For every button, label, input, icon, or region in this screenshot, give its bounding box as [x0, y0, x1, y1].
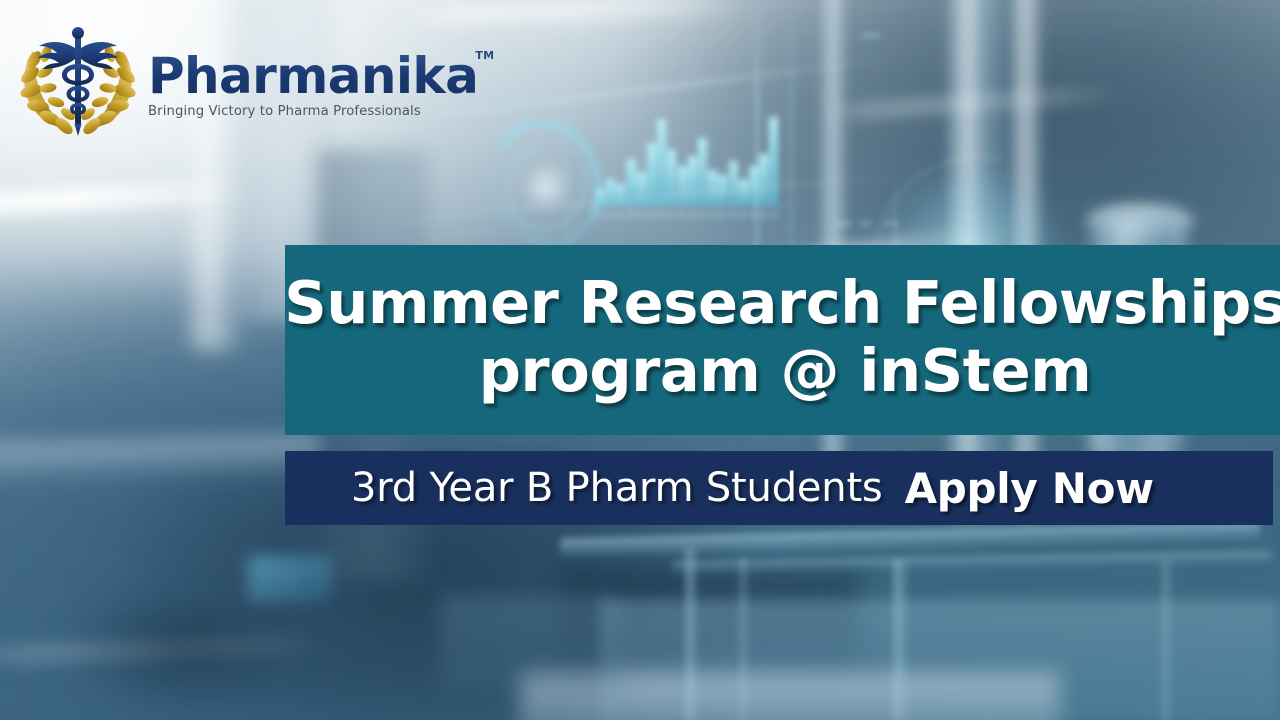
holographic-axis-tick	[770, 213, 776, 217]
caduceus-laurel-wreath-icon	[14, 24, 142, 142]
brand-tagline: Bringing Victory to Pharma Professionals	[148, 104, 478, 119]
holographic-axis-tick	[689, 213, 695, 217]
title-banner: Summer Research Fellowships program @ in…	[285, 245, 1280, 435]
holographic-bar	[698, 138, 707, 205]
holographic-bar	[688, 156, 697, 205]
holographic-bar	[657, 119, 666, 205]
hud-dash	[836, 222, 852, 225]
eligibility-text: 3rd Year B Pharm Students	[351, 465, 883, 511]
holographic-bar	[708, 170, 717, 205]
lab-monitor-glow	[248, 556, 332, 602]
brand-name: Pharmanika	[148, 47, 478, 105]
hud-axis-vertical	[894, 178, 896, 248]
holographic-axis-tick	[607, 213, 613, 217]
hud-dash	[862, 34, 880, 37]
holographic-axis-tick	[679, 213, 685, 217]
trademark-symbol: TM	[475, 49, 494, 62]
holographic-axis-tick	[730, 213, 736, 217]
holographic-axis-tick	[709, 213, 715, 217]
holographic-bar	[678, 166, 687, 205]
holographic-bar	[759, 154, 768, 205]
holographic-axis-tick	[699, 213, 705, 217]
holographic-axis-tick	[648, 213, 654, 217]
brand-wordmark-group: Pharmanika TM Bringing Victory to Pharma…	[148, 47, 478, 119]
hud-dash	[860, 222, 872, 225]
apply-now-button[interactable]: Apply Now	[905, 464, 1154, 513]
subtitle-cta-banner[interactable]: 3rd Year B Pharm Students Apply Now	[285, 451, 1273, 525]
holographic-axis-tick	[719, 213, 725, 217]
cabinet-drawer	[440, 596, 620, 692]
title-line-2: program @ inStem	[479, 337, 1092, 405]
holographic-axis-tick	[740, 213, 746, 217]
holographic-axis-tick	[668, 213, 674, 217]
holographic-axis-tick	[628, 213, 634, 217]
holographic-bar	[739, 179, 748, 205]
holographic-axis-tick	[658, 213, 664, 217]
holographic-axis-tick	[597, 213, 603, 217]
brand-logo[interactable]: Pharmanika TM Bringing Victory to Pharma…	[14, 24, 424, 142]
title-line-1: Summer Research Fellowships	[284, 269, 1280, 337]
holographic-bar	[729, 161, 738, 205]
promotional-banner-poster: Pharmanika TM Bringing Victory to Pharma…	[0, 0, 1280, 720]
holographic-axis-tick	[638, 213, 644, 217]
hud-dash	[884, 222, 898, 225]
lab-stool-silhouette	[60, 600, 300, 720]
holographic-bar	[769, 117, 778, 205]
holographic-axis-tick	[617, 213, 623, 217]
holographic-axis-tick	[760, 213, 766, 217]
